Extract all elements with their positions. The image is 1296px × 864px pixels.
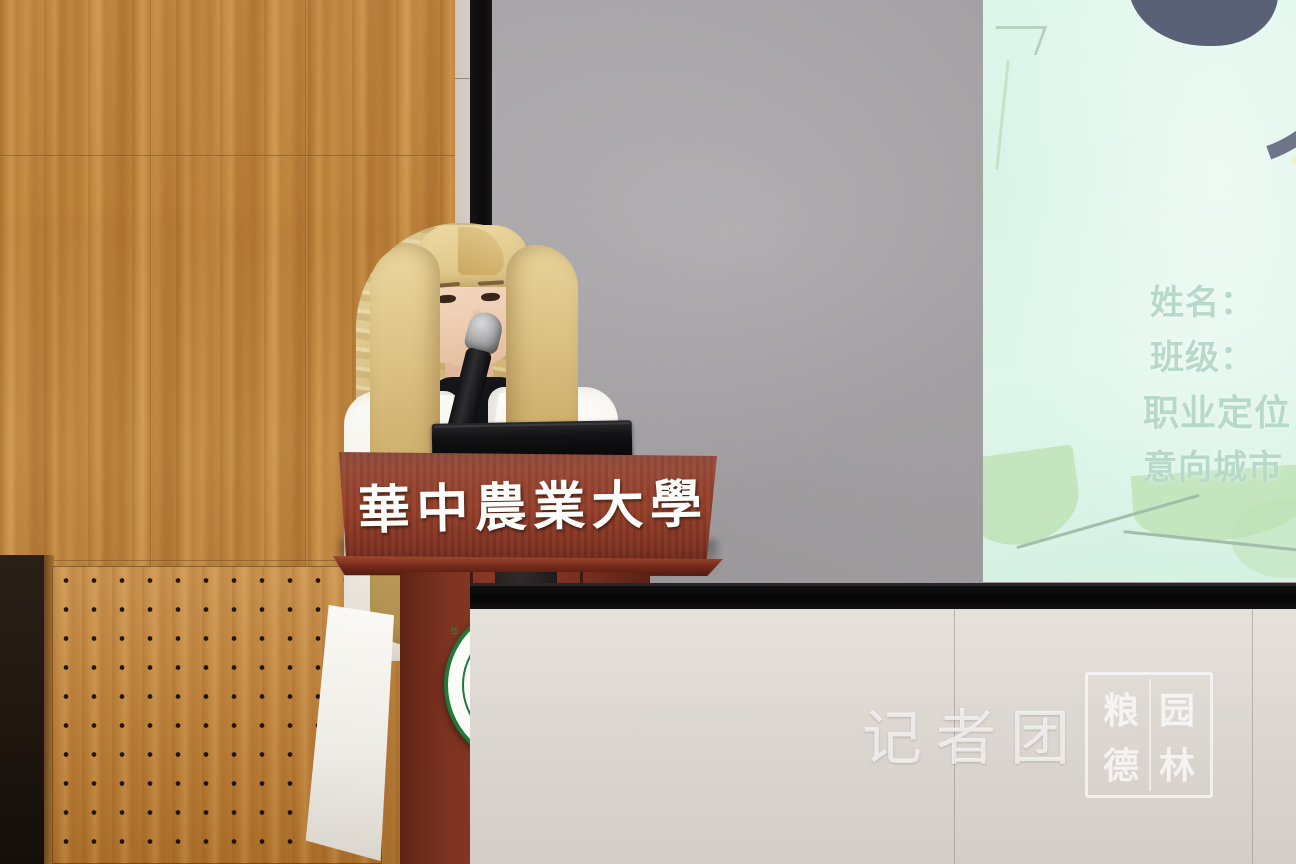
- wall-gap-line: [455, 78, 471, 79]
- laptop-screen-edge: [434, 422, 630, 427]
- plaque-char-3: 農: [474, 482, 527, 535]
- podium-nameplate-text: 華 中 農 業 大 學: [351, 459, 709, 558]
- plaque-char-6: 學: [649, 479, 702, 532]
- slide-line-career: 职业定位: [1143, 384, 1291, 436]
- seal-stamp: 粮 园 德 林: [1085, 672, 1213, 798]
- lecture-hall-photo: 姓名： 班级： 职业定位 意向城市: [0, 0, 1296, 864]
- plaque-char-5: 大: [591, 480, 644, 533]
- plaque-char-2: 中: [416, 483, 469, 536]
- plaque-char-1: 華: [358, 484, 411, 537]
- watermark-text: 记者团: [862, 690, 1084, 777]
- plaque-char-4: 業: [533, 481, 586, 534]
- wood-panel-seam: [0, 155, 470, 157]
- seal-divider: [1149, 679, 1151, 791]
- seal-char-2: 园: [1149, 680, 1205, 735]
- wall-shadow-edge: [0, 555, 44, 864]
- slide-line-class: 班级：: [1150, 330, 1255, 379]
- slide-line-city: 意向城市: [1143, 440, 1283, 489]
- slide-text-block: 姓名： 班级： 职业定位 意向城市: [983, 0, 1296, 582]
- projected-slide: 姓名： 班级： 职业定位 意向城市: [983, 0, 1296, 582]
- screen-frame-highlight: [470, 583, 1296, 586]
- seal-char-4: 林: [1149, 735, 1205, 790]
- seal-char-1: 粮: [1093, 680, 1149, 735]
- lower-wall-seam: [1252, 609, 1253, 864]
- seal-char-3: 德: [1093, 735, 1149, 790]
- slide-line-name: 姓名：: [1150, 275, 1255, 324]
- screen-bottom-frame: [470, 583, 1296, 609]
